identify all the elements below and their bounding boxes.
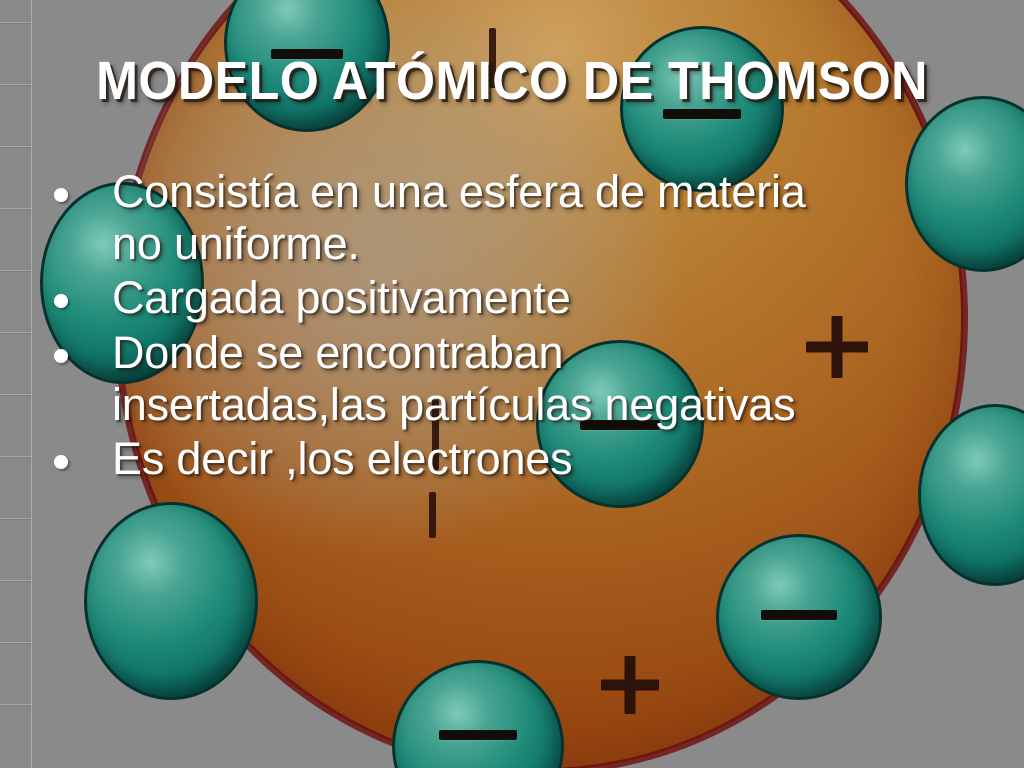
bullet-dot-icon: [54, 455, 68, 469]
list-item-text: Cargada positivamente: [112, 272, 571, 324]
bullet-dot-icon: [54, 349, 68, 363]
list-item-text: Consistía en una esfera de materia no un…: [112, 166, 814, 270]
bullet-dot-icon: [54, 294, 68, 308]
list-item: Es decir ,los electrones: [54, 433, 814, 485]
list-item-text: Es decir ,los electrones: [112, 433, 572, 485]
list-item-text: Donde se encontraban insertadas,las part…: [112, 327, 814, 431]
page-title: MODELO ATÓMICO DE THOMSON: [36, 50, 988, 112]
bullet-dot-icon: [54, 188, 68, 202]
list-item: Donde se encontraban insertadas,las part…: [54, 327, 814, 431]
slide-text-layer: MODELO ATÓMICO DE THOMSON Consistía en u…: [0, 0, 1024, 768]
slide-canvas: MODELO ATÓMICO DE THOMSON Consistía en u…: [0, 0, 1024, 768]
list-item: Consistía en una esfera de materia no un…: [54, 166, 814, 270]
list-item: Cargada positivamente: [54, 272, 814, 324]
bullet-list: Consistía en una esfera de materia no un…: [54, 166, 814, 487]
